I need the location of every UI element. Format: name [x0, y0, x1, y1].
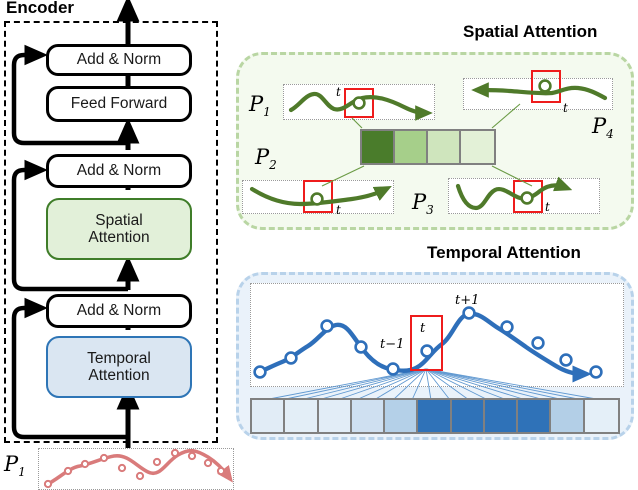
temporal-attention-cell	[285, 400, 318, 432]
temporal-attention-cell	[452, 400, 485, 432]
temporal-attention-cell	[585, 400, 618, 432]
temporal-attention-cell	[352, 400, 385, 432]
temporal-attention-cell	[418, 400, 451, 432]
temporal-label-next: t+1	[455, 293, 479, 308]
temporal-attention-cells	[250, 398, 620, 434]
temporal-highlight-box	[410, 315, 443, 371]
temporal-attention-cell	[485, 400, 518, 432]
figure-canvas: Encoder Add & Norm Feed Forward Add & No…	[0, 0, 638, 490]
temporal-label-prev: t−1	[380, 337, 404, 352]
temporal-attention-cell	[252, 400, 285, 432]
temporal-attention-cell	[385, 400, 418, 432]
temporal-attention-cell	[518, 400, 551, 432]
temporal-label-current: t	[420, 321, 425, 336]
temporal-attention-cell	[319, 400, 352, 432]
temporal-attention-cell	[551, 400, 584, 432]
